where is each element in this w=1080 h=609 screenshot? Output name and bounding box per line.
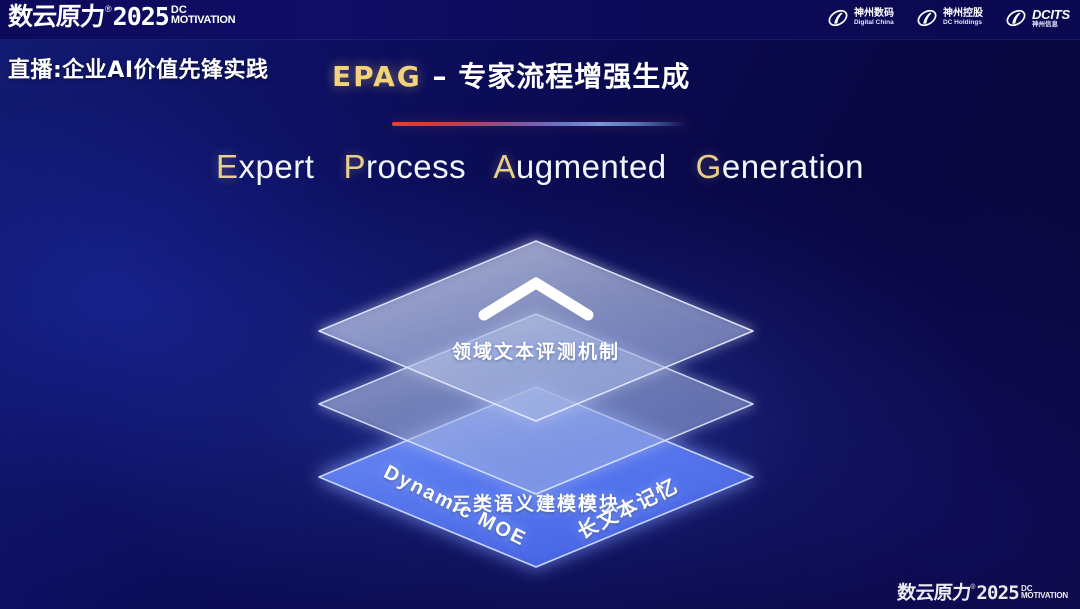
- corporate-logo-group: 神州数码 Digital China 神州控股 DC Holdings: [827, 7, 1070, 29]
- corp-logo-dc-holdings: 神州控股 DC Holdings: [916, 7, 983, 29]
- corp-name-cn: 神州数码: [854, 9, 894, 19]
- watermark-year: 2025: [976, 583, 1019, 604]
- expansion-word-process: Process: [343, 148, 466, 185]
- swirl-logo-icon: [827, 7, 849, 29]
- brand-year: 2025: [113, 3, 169, 31]
- page-title: EPAG – 专家流程增强生成: [332, 55, 690, 95]
- corp-logo-text: 神州控股 DC Holdings: [943, 9, 983, 27]
- slide-canvas: 数云原力 ® 2025 DC MOTIVATION 神州数码 Digital C…: [0, 0, 1080, 609]
- corp-logo-text: DCITS 神州信息: [1032, 8, 1070, 29]
- brand-logo: 数云原力 ® 2025 DC MOTIVATION: [8, 3, 235, 31]
- title-dash: –: [432, 60, 458, 93]
- corp-name-cn: 神州信息: [1032, 22, 1070, 29]
- expansion-space: [476, 148, 486, 185]
- expansion-word-generation: Generation: [696, 148, 864, 185]
- expansion-space: [324, 148, 334, 185]
- expansion-word-expert: Expert: [216, 148, 314, 185]
- watermark-motivation-label: MOTIVATION: [1021, 592, 1068, 600]
- brand-dc-motivation: DC MOTIVATION: [171, 3, 235, 26]
- corp-name-en: DC Holdings: [943, 20, 983, 27]
- title-acronym: EPAG: [332, 60, 422, 93]
- watermark-name-cn: 数云原力: [896, 583, 971, 604]
- expansion-space: [676, 148, 686, 185]
- brand-name-cn: 数云原力: [7, 3, 104, 31]
- brand-motivation-label: MOTIVATION: [171, 15, 235, 26]
- watermark-dc-motivation: DC MOTIVATION: [1021, 583, 1068, 600]
- swirl-logo-icon: [916, 7, 938, 29]
- gradient-divider: [392, 122, 688, 126]
- brand-registered-mark: ®: [105, 3, 112, 15]
- corp-logo-dcits: DCITS 神州信息: [1005, 7, 1070, 29]
- swirl-logo-icon: [1005, 7, 1027, 29]
- diagram-layer-top[interactable]: 领域文本评测机制: [313, 237, 759, 425]
- live-stream-title: 直播:企业AI价值先锋实践: [8, 52, 269, 84]
- layered-architecture-diagram: 三类语义建模模块 Dynamic MOE 长: [313, 237, 759, 567]
- title-cn: 专家流程增强生成: [458, 60, 690, 93]
- acronym-expansion: Expert Process Augmented Generation: [0, 148, 1080, 186]
- watermark-logo: 数云原力 ® 2025 DC MOTIVATION: [897, 583, 1068, 604]
- expansion-word-augmented: Augmented: [493, 148, 666, 185]
- corp-logo-digital-china: 神州数码 Digital China: [827, 7, 894, 29]
- corp-name-en: Digital China: [854, 20, 894, 27]
- corp-name-dcits: DCITS: [1032, 8, 1070, 21]
- corp-logo-text: 神州数码 Digital China: [854, 9, 894, 27]
- corp-name-cn: 神州控股: [943, 9, 983, 19]
